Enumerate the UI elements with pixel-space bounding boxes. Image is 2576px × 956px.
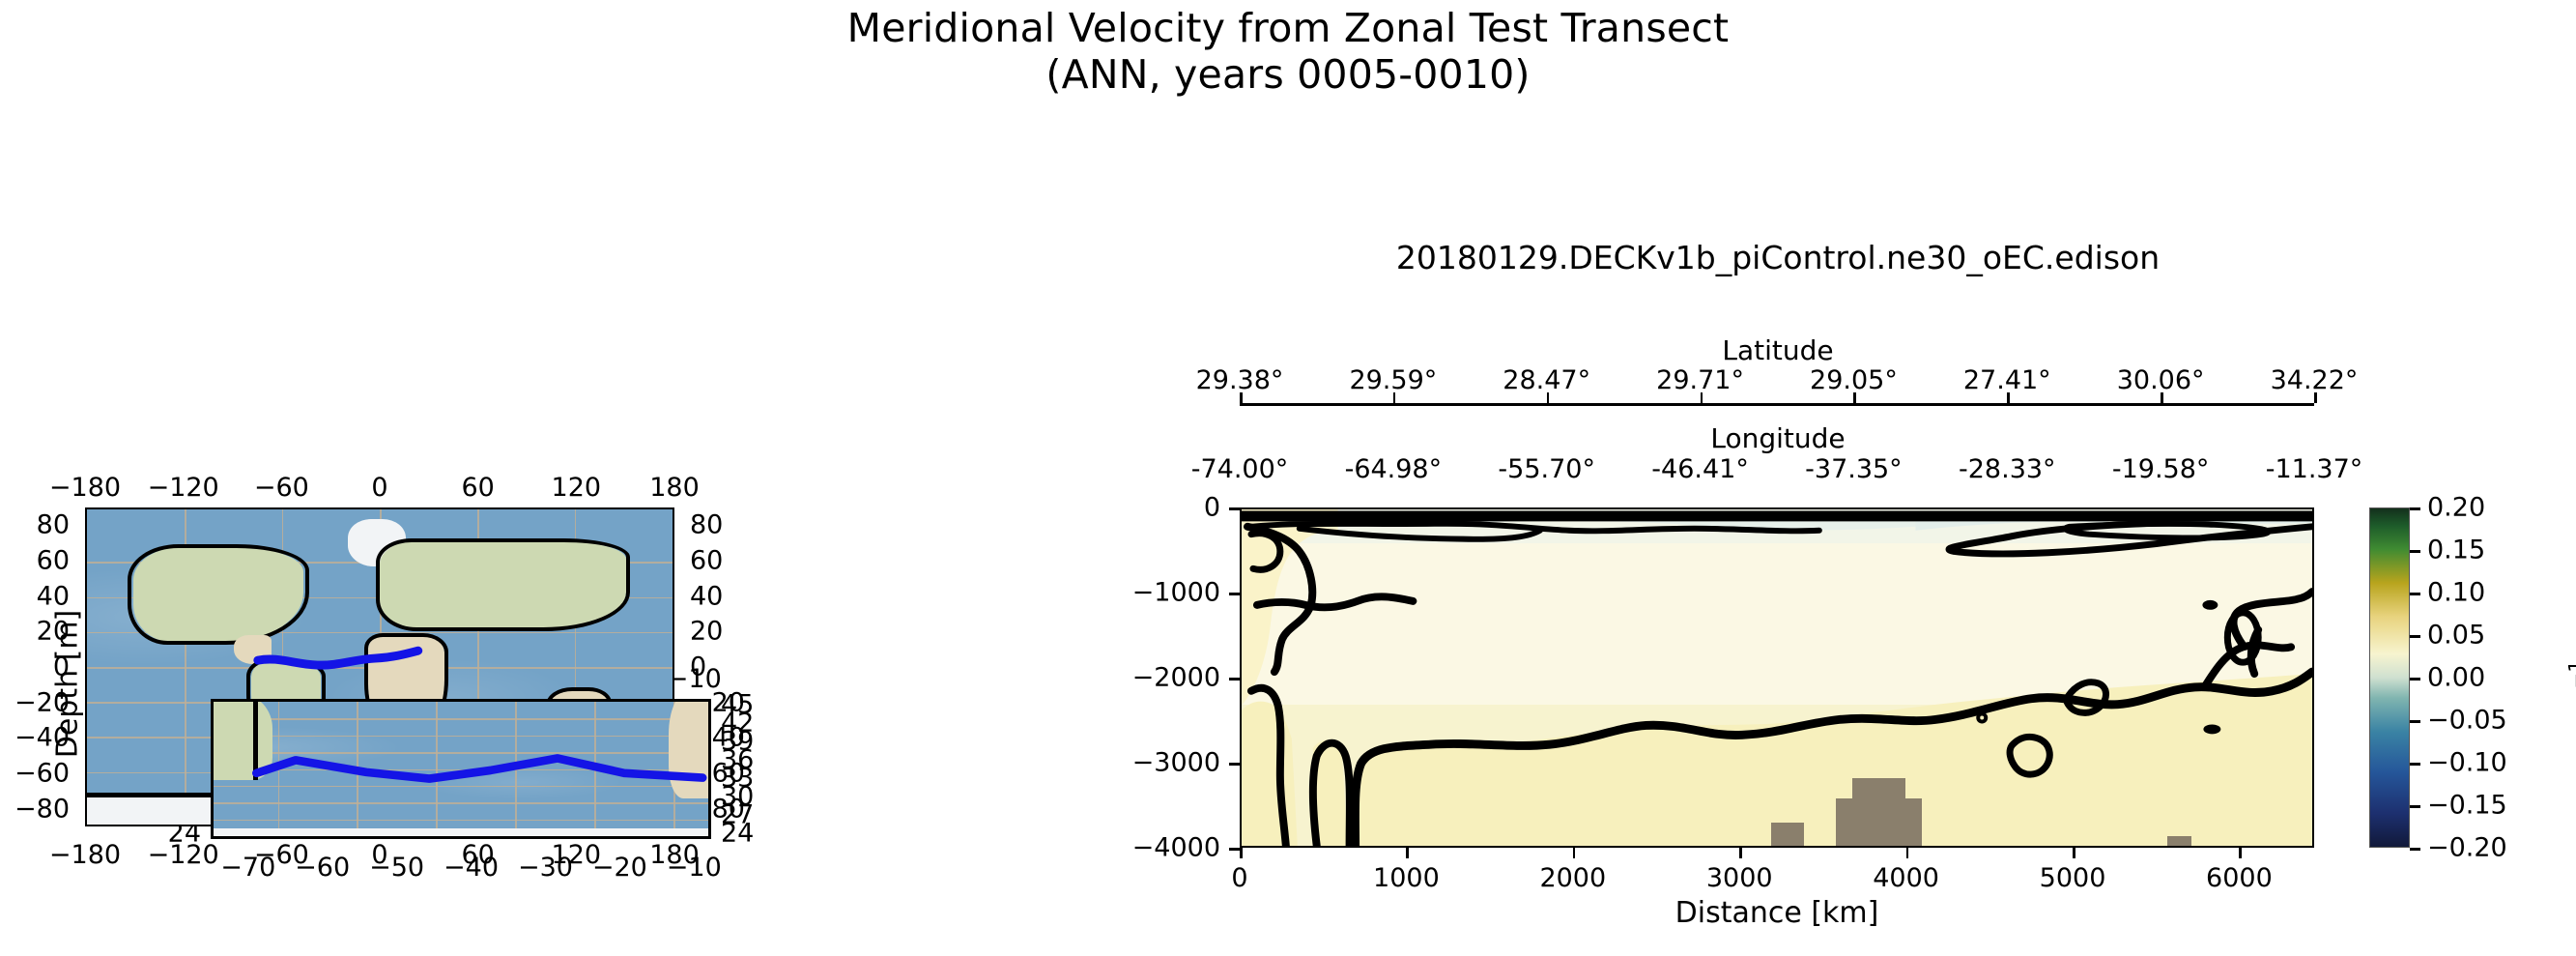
y-tick-label-4: −4000	[1056, 833, 1220, 863]
longitude-tick-label-6: -19.58°	[2112, 454, 2210, 484]
contour-surface-2	[1300, 529, 1540, 539]
map-x-tick-label-top-4: 60	[461, 473, 494, 503]
seafloor-mask-step	[1771, 823, 1803, 846]
colorbar[interactable]	[2369, 507, 2410, 848]
figure-title-line1: Meridional Velocity from Zonal Test Tran…	[0, 6, 2576, 52]
latitude-tick-label-6: 30.06°	[2117, 365, 2205, 395]
contour-1000m-left	[1257, 596, 1413, 607]
inset-x-tick-label-bottom-0: −70	[220, 853, 275, 883]
latitude-tick-row: 29.38°29.59°28.47°29.71°29.05°27.41°30.0…	[1150, 365, 2406, 398]
latitude-tick-label-0: 29.38°	[1196, 365, 1284, 395]
inset-transect-overlay	[214, 702, 708, 836]
colorbar-tick-label-6: −0.10	[2427, 748, 2507, 778]
top-axis-tick-0	[1240, 392, 1243, 403]
map-y-tick-label-right-0: 80	[690, 510, 723, 540]
colorbar-tick-label-4: 0.00	[2427, 663, 2485, 693]
x-tick-4	[1906, 848, 1909, 858]
inset-x-tick-label-bottom-2: −50	[369, 853, 424, 883]
top-axis-tick-5	[2007, 392, 2010, 403]
x-tick-label-5: 5000	[2040, 863, 2106, 893]
figure-title-line2: (ANN, years 0005-0010)	[0, 52, 2576, 99]
y-tick-2	[1229, 678, 1240, 681]
contour-overlay	[1242, 509, 2312, 846]
seafloor-mask-right	[2167, 836, 2190, 846]
contour-right-upper	[2234, 592, 2312, 645]
longitude-tick-row: -74.00°-64.98°-55.70°-46.41°-37.35°-28.3…	[1150, 454, 2406, 487]
x-tick-0	[1240, 848, 1243, 858]
colorbar-tick-label-1: 0.15	[2427, 536, 2485, 565]
x-tick-3	[1739, 848, 1742, 858]
longitude-tick-label-3: -46.41°	[1651, 454, 1749, 484]
y-tick-3	[1229, 763, 1240, 766]
latitude-tick-label-5: 27.41°	[1963, 365, 2051, 395]
map-x-tick-label-top-6: 180	[649, 473, 700, 503]
map-x-tick-label-top-3: 0	[371, 473, 387, 503]
top-axis-line	[1240, 403, 2314, 406]
figure-title: Meridional Velocity from Zonal Test Tran…	[0, 6, 2576, 99]
deep-fill-left	[1242, 702, 1348, 846]
map-x-tick-label-top-0: −180	[49, 473, 121, 503]
x-tick-label-6: 6000	[2206, 863, 2273, 893]
y-axis-title: Depth [m]	[51, 559, 85, 810]
colorbar-tick-label-8: −0.20	[2427, 833, 2507, 863]
longitude-tick-label-7: -11.37°	[2266, 454, 2363, 484]
x-tick-5	[2073, 848, 2075, 858]
x-tick-label-3: 3000	[1706, 863, 1773, 893]
inset-x-tick-label-bottom-4: −30	[518, 853, 573, 883]
y-tick-0	[1229, 507, 1240, 510]
x-tick-label-4: 4000	[1873, 863, 1939, 893]
x-tick-label-1: 1000	[1373, 863, 1440, 893]
longitude-tick-label-5: -28.33°	[1959, 454, 2056, 484]
x-tick-label-2: 2000	[1539, 863, 1606, 893]
colorbar-tick-label-2: 0.10	[2427, 578, 2485, 608]
map-x-tick-label-top-2: −60	[254, 473, 309, 503]
x-axis-title: Distance [km]	[1240, 896, 2314, 930]
map-x-tick-label-top-5: 120	[552, 473, 602, 503]
y-tick-label-0: 0	[1056, 493, 1220, 523]
y-tick-label-2: −2000	[1056, 663, 1220, 693]
colorbar-tick-2	[2410, 593, 2420, 595]
longitude-tick-label-0: -74.00°	[1191, 454, 1289, 484]
x-tick-label-0: 0	[1231, 863, 1247, 893]
colorbar-tick-label-7: −0.15	[2427, 791, 2507, 821]
y-tick-4	[1229, 848, 1240, 851]
y-tick-label-1: −1000	[1056, 578, 1220, 608]
latitude-tick-label-3: 29.71°	[1656, 365, 1744, 395]
transect-plot-area[interactable]	[1240, 507, 2314, 848]
inset-y-tick-label-right-7: 24	[721, 818, 754, 848]
x-tick-6	[2239, 848, 2242, 858]
y-tick-label-3: −3000	[1056, 748, 1220, 778]
inset-map-panel[interactable]	[211, 699, 711, 839]
colorbar-tick-label-3: 0.05	[2427, 621, 2485, 651]
longitude-axis-label: Longitude	[1150, 422, 2406, 454]
run-name-subtitle: 20180129.DECKv1b_piControl.ne30_oEC.edis…	[1150, 239, 2406, 276]
seafloor-mask-peak	[1852, 778, 1905, 846]
latitude-tick-label-4: 29.05°	[1810, 365, 1898, 395]
top-axis-tick-1	[1393, 392, 1396, 403]
inset-x-tick-label-bottom-1: −60	[295, 853, 350, 883]
map-y-tick-label-right-2: 40	[690, 581, 723, 611]
map-x-tick-label-top-1: −120	[148, 473, 219, 503]
longitude-tick-label-1: -64.98°	[1345, 454, 1443, 484]
colorbar-tick-1	[2410, 550, 2420, 553]
longitude-tick-label-2: -55.70°	[1498, 454, 1595, 484]
x-tick-2	[1573, 848, 1576, 858]
map-y-tick-label-left-0: 80	[37, 510, 70, 540]
map-y-tick-label-right-1: 60	[690, 546, 723, 576]
x-tick-1	[1406, 848, 1409, 858]
latitude-tick-label-1: 29.59°	[1349, 365, 1437, 395]
top-axis-tick-4	[1853, 392, 1856, 403]
transect-line-main	[258, 651, 418, 665]
inset-x-tick-label-bottom-3: −40	[444, 853, 499, 883]
colorbar-tick-4	[2410, 678, 2420, 681]
y-tick-1	[1229, 593, 1240, 595]
deep-fill-main	[1358, 674, 2312, 846]
longitude-tick-label-4: -37.35°	[1805, 454, 1903, 484]
inset-x-tick-label-bottom-6: −10	[667, 853, 722, 883]
colorbar-tick-label-5: −0.05	[2427, 706, 2507, 736]
colorbar-tick-5	[2410, 720, 2420, 723]
map-x-tick-label-bottom-0: −180	[49, 840, 121, 870]
colorbar-tick-6	[2410, 763, 2420, 766]
colorbar-tick-7	[2410, 805, 2420, 808]
colorbar-tick-3	[2410, 635, 2420, 638]
inset-transect-line	[256, 758, 702, 778]
top-axis-tick-6	[2161, 392, 2163, 403]
inset-x-tick-label-top-6: −10	[667, 664, 722, 694]
colorbar-unit-label: m s−1	[2564, 641, 2576, 757]
inset-x-tick-label-bottom-5: −20	[592, 853, 647, 883]
contour-dot-upper	[2202, 600, 2218, 610]
colorbar-tick-label-0: 0.20	[2427, 493, 2485, 523]
top-axis-tick-3	[1701, 392, 1703, 403]
latitude-tick-label-7: 34.22°	[2271, 365, 2359, 395]
latitude-axis-label: Latitude	[1150, 334, 2406, 366]
colorbar-tick-8	[2410, 848, 2420, 851]
latitude-tick-label-2: 28.47°	[1503, 365, 1590, 395]
map-y-tick-label-right-3: 20	[690, 617, 723, 647]
top-axis-tick-2	[1547, 392, 1550, 403]
top-axis-tick-7	[2314, 392, 2317, 403]
contour-dot-lower	[2203, 724, 2220, 734]
colorbar-tick-0	[2410, 507, 2420, 510]
